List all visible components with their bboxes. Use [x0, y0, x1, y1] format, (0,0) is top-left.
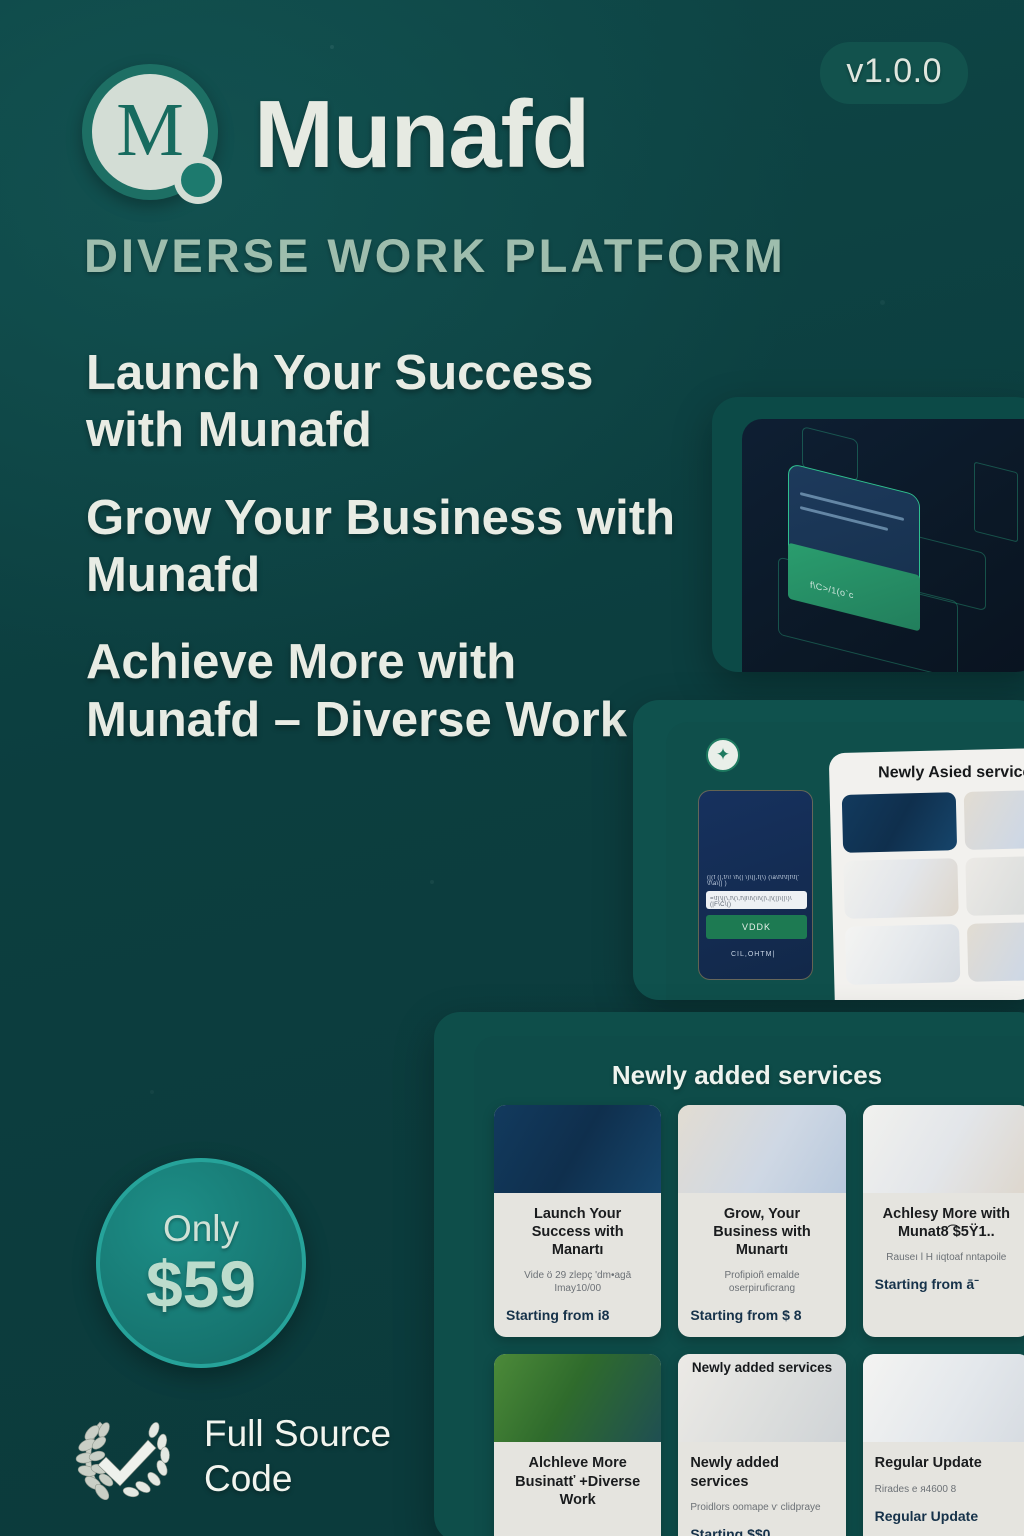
phone-footer-text: CIL,OHTM| [731, 951, 775, 958]
listing-tile[interactable] [842, 792, 957, 853]
service-card[interactable]: Launch Your Success with Manartı Vide ö … [494, 1105, 661, 1337]
service-card-price: Starting from $ 8 [690, 1307, 833, 1323]
service-card-image [863, 1354, 1024, 1442]
headline-list: Launch Your Success with Munafd Grow You… [86, 345, 696, 779]
sparkle-decor [880, 300, 885, 305]
mockup-isometric-hero: f\C>/1(o`c Tv(c^\/M|f\f\}(\Ji/ w/|G\(G(\… [712, 397, 1024, 672]
headline-item: Launch Your Success with Munafd [86, 345, 696, 460]
service-card[interactable]: Newly added services Newly added service… [678, 1354, 845, 1536]
mockup-isometric-screen: f\C>/1(o`c Tv(c^\/M|f\f\}(\Ji/ w/|G\(G(\… [742, 419, 1024, 672]
brand-wordmark: Munafd [254, 87, 589, 183]
service-card-body: Newly added services Proidlors oomape ѵ … [678, 1442, 845, 1536]
sparkle-decor [150, 1090, 154, 1094]
phone-hint-text: (|(f (|,f/\! \f\(| \)\(|,f(\) (\a\f\f\f|… [707, 875, 807, 887]
service-card-price: Starting from i8 [506, 1307, 649, 1323]
service-card-desc: Rauseı l H ıiqtoaf nntapoile [875, 1251, 1018, 1264]
service-card-image [494, 1354, 661, 1442]
headline-item: Achieve More with Munafd – Diverse Work [86, 634, 696, 749]
poster-canvas: M Munafd DIVERSE WORK PLATFORM v1.0.0 La… [0, 0, 1024, 1536]
service-card-body: Launch Your Success with Manartı Vide ö … [494, 1193, 661, 1337]
service-card-body: Alchleve More Businatť +Diverse Work [494, 1442, 661, 1534]
service-card-title: Regular Update [875, 1454, 1018, 1472]
service-card-title: Achlesy More with Munat8͡ $5Ÿ1.. [875, 1205, 1018, 1241]
service-card-body: Regular Update Rirades е я4600 8 Regular… [863, 1442, 1024, 1536]
full-source-code-row: Full Source Code [70, 1400, 391, 1512]
full-source-code-line1: Full Source [204, 1411, 391, 1456]
service-card[interactable]: Alchleve More Businatť +Diverse Work [494, 1354, 661, 1536]
service-card-image: Newly added services [678, 1354, 845, 1442]
headline-item: Grow Your Business with Munafd [86, 490, 696, 605]
service-card[interactable]: Achlesy More with Munat8͡ $5Ÿ1.. Rauseı … [863, 1105, 1024, 1337]
mockup-app-surface: ✦ (|(f (|,f/\! \f\(| \)\(|,f(\) (\a\f\f\… [666, 722, 1024, 1000]
service-card[interactable]: Grow, Your Business with Munartı Profipi… [678, 1105, 845, 1337]
version-badge: v1.0.0 [820, 42, 968, 104]
mockup-newly-added-services: Newly added services Launch Your Success… [434, 1012, 1024, 1536]
listing-panel-title: Newly Asied services [841, 764, 1024, 783]
service-card-price: Starting $$0 [690, 1526, 833, 1536]
listing-tile-grid [842, 789, 1024, 985]
service-card-image [678, 1105, 845, 1193]
phone-input-value: =\f(\|(\,f\(\,f\|l\l\(\l\(|\,|\(|)\(|\)\… [710, 896, 804, 908]
service-card-title: Newly added services [690, 1454, 833, 1490]
service-card-body: Achlesy More with Munat8͡ $5Ÿ1.. Rauseı … [863, 1193, 1024, 1306]
iso-decor-shape [974, 462, 1018, 543]
listing-tile[interactable] [967, 921, 1024, 982]
full-source-code-line2: Code [204, 1456, 391, 1501]
bird-badge-icon: ✦ [706, 738, 740, 772]
logo-dot-inner [181, 163, 215, 197]
mockup-phone-screen: (|(f (|,f/\! \f\(| \)\(|,f(\) (\a\f\f\f|… [698, 790, 813, 980]
munafd-circle-logo-icon: M [78, 60, 228, 210]
mockup-app-listing: ✦ (|(f (|,f/\! \f\(| \)\(|,f(\) (\a\f\f\… [633, 700, 1024, 1000]
service-card-body: Grow, Your Business with Munartı Profipi… [678, 1193, 845, 1337]
service-card-desc: Rirades е я4600 8 [875, 1483, 1018, 1496]
price-badge-label: Only [163, 1210, 239, 1247]
listing-tile[interactable] [843, 858, 958, 919]
services-title: Newly added services [474, 1060, 1024, 1091]
services-surface: Newly added services Launch Your Success… [474, 1036, 1024, 1536]
listing-tile[interactable] [965, 855, 1024, 916]
phone-submit-button[interactable]: VDDK [706, 915, 807, 939]
listing-tile[interactable] [845, 924, 960, 985]
service-card[interactable]: Regular Update Rirades е я4600 8 Regular… [863, 1354, 1024, 1536]
mockup-listing-panel: Newly Asied services [829, 747, 1024, 1000]
sparkle-decor [330, 45, 334, 49]
services-grid: Launch Your Success with Manartı Vide ö … [474, 1105, 1024, 1536]
brand-tagline: DIVERSE WORK PLATFORM [84, 228, 978, 283]
price-badge-amount: $59 [146, 1251, 256, 1317]
service-card-image [863, 1105, 1024, 1193]
service-card-desc: Profipioñ emaldе oserpiruficrang [690, 1269, 833, 1295]
sparkle-decor [430, 880, 434, 884]
full-source-code-label: Full Source Code [204, 1411, 391, 1501]
service-card-desc: Proidlors oomape ѵ clidpraye [690, 1501, 833, 1514]
service-card-title: Grow, Your Business with Munartı [690, 1205, 833, 1259]
service-card-title: Alchleve More Businatť +Diverse Work [506, 1454, 649, 1508]
price-badge: Only $59 [96, 1158, 306, 1368]
listing-tile[interactable] [964, 789, 1024, 850]
service-card-image [494, 1105, 661, 1193]
service-card-image-caption: Newly added services [678, 1360, 845, 1375]
service-card-price: Regular Update [875, 1508, 1018, 1524]
laurel-check-icon [70, 1400, 182, 1512]
service-card-title: Launch Your Success with Manartı [506, 1205, 649, 1259]
service-card-price: Starting from āˉ [875, 1276, 1018, 1292]
service-card-desc: Vide ö 29 zlepç 'dm•agā Imay10/00 [506, 1269, 649, 1295]
